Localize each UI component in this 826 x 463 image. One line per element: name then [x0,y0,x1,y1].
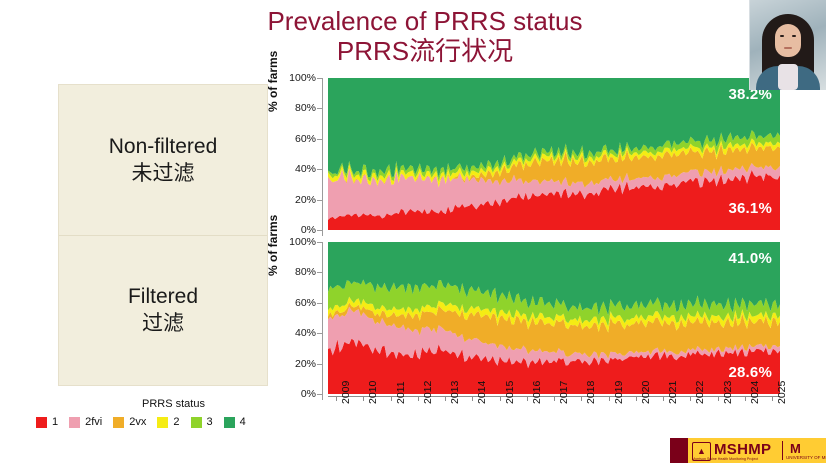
chart-filtered-plot-area [328,242,780,394]
xtick-label: 2012 [422,381,434,404]
chart-non-filtered-annotation-bottom: 36.1% [728,200,772,217]
ytick-mark [317,242,322,243]
xtick-mark [690,396,691,401]
xtick-mark [445,396,446,401]
ytick-mark [317,333,322,334]
legend-item-2[interactable]: 2 [157,416,179,428]
xtick-label: 2011 [395,381,407,404]
ytick-label: 60% [295,297,316,309]
footer-logo-bar: ▲ Morrison Swine Health Monitoring Proje… [670,438,826,463]
legend-swatch-icon [113,417,124,428]
ytick-mark [317,364,322,365]
legend-swatch-icon [36,417,47,428]
chart-filtered-yaxis-line [322,242,323,400]
ytick-label: 80% [295,102,316,114]
legend-item-label: 1 [52,416,58,428]
legend-item-label: 2 [173,416,179,428]
xtick-label: 2024 [749,381,761,404]
legend-items: 12fvi2vx234 [36,416,257,428]
title-line-zh: PRRS流行状况 [190,36,660,66]
ytick-label: 40% [295,327,316,339]
chart-filtered: % of farms 0%20%40%60%80%100% 41.0% 28.6… [268,242,780,400]
xtick-label: 2017 [558,381,570,404]
chart-filtered-yaxis-ticks: 0%20%40%60%80%100% [280,242,322,400]
xtick-mark [472,396,473,401]
xtick-mark [718,396,719,401]
category-label-panel: Non-filtered 未过滤 Filtered 过滤 [58,84,268,386]
panel-row-filtered-label-en: Filtered [128,283,198,310]
ytick-mark [317,78,322,79]
panel-row-non-filtered-label-zh: 未过滤 [132,160,195,187]
xtick-mark [772,396,773,401]
ytick-mark [317,303,322,304]
ytick-label: 100% [289,72,316,84]
xtick-label: 2020 [640,381,652,404]
ytick-mark [317,394,322,395]
xtick-label: 2016 [531,381,543,404]
page-title: Prevalence of PRRS status PRRS流行状况 [190,6,660,66]
ytick-label: 20% [295,194,316,206]
xtick-mark [527,396,528,401]
presenter-video-thumbnail[interactable] [749,0,826,90]
xtick-mark [554,396,555,401]
ytick-label: 100% [289,236,316,248]
xtick-label: 2010 [367,381,379,404]
ytick-label: 80% [295,266,316,278]
ytick-label: 60% [295,133,316,145]
chart-filtered-annotation-top: 41.0% [728,250,772,267]
presenter-eye-left [780,35,784,37]
mshmp-brand-label: MSHMP [714,441,771,458]
xtick-label: 2018 [585,381,597,404]
legend-swatch-icon [157,417,168,428]
legend-title: PRRS status [142,398,205,410]
university-subtitle: UNIVERSITY OF MINNESOTA [786,455,826,460]
xtick-label: 2014 [476,381,488,404]
xtick-mark [745,396,746,401]
legend-item-label: 2fvi [85,416,102,428]
presenter-face [775,24,801,57]
xtick-mark [363,396,364,401]
xtick-mark [500,396,501,401]
chart-non-filtered-ylabel: % of farms [266,96,280,112]
ytick-mark [317,139,322,140]
xtick-label: 2009 [340,381,352,404]
xtick-label: 2021 [667,381,679,404]
xtick-mark [609,396,610,401]
ytick-mark [317,169,322,170]
legend-swatch-icon [224,417,235,428]
ytick-label: 40% [295,163,316,175]
charts-container: % of farms 0%20%40%60%80%100% 38.2% 36.1… [268,78,780,396]
legend-item-4[interactable]: 4 [224,416,246,428]
chart-non-filtered-yaxis-line [322,78,323,236]
ytick-mark [317,108,322,109]
legend-item-label: 2vx [129,416,146,428]
legend-item-3[interactable]: 3 [191,416,213,428]
xtick-mark [581,396,582,401]
xtick-mark [636,396,637,401]
xtick-label: 2013 [449,381,461,404]
ytick-mark [317,230,322,231]
legend-item-1[interactable]: 1 [36,416,58,428]
chart-non-filtered-yaxis-ticks: 0%20%40%60%80%100% [280,78,322,236]
legend-item-2fvi[interactable]: 2fvi [69,416,102,428]
xtick-label: 2025 [776,381,788,404]
presenter-mouth [784,47,792,49]
panel-row-non-filtered: Non-filtered 未过滤 [59,85,267,236]
chart-non-filtered-plot-area [328,78,780,230]
xtick-label: 2023 [722,381,734,404]
legend-item-label: 3 [207,416,213,428]
legend-swatch-icon [69,417,80,428]
legend-item-label: 4 [240,416,246,428]
chart-non-filtered: % of farms 0%20%40%60%80%100% 38.2% 36.1… [268,78,780,236]
presenter-eye-right [792,35,796,37]
university-logo-icon: M [790,441,801,456]
title-line-en: Prevalence of PRRS status [267,6,582,36]
chart-filtered-ylabel: % of farms [266,260,280,276]
panel-row-filtered-label-zh: 过滤 [142,310,184,337]
xtick-mark [418,396,419,401]
ytick-label: 20% [295,358,316,370]
xtick-mark [663,396,664,401]
ytick-label: 0% [301,224,316,236]
ytick-mark [317,200,322,201]
footer-accent-block [670,438,688,463]
chart-legend: PRRS status 12fvi2vx234 [34,398,324,438]
legend-item-2vx[interactable]: 2vx [113,416,146,428]
legend-swatch-icon [191,417,202,428]
xtick-label: 2019 [613,381,625,404]
presenter-collar [778,64,798,90]
xtick-mark [336,396,337,401]
xtick-label: 2015 [504,381,516,404]
chart-filtered-annotation-bottom: 28.6% [728,364,772,381]
xtick-label: 2022 [694,381,706,404]
xtick-mark [391,396,392,401]
ytick-mark [317,272,322,273]
panel-row-non-filtered-label-en: Non-filtered [109,133,218,160]
panel-row-filtered: Filtered 过滤 [59,236,267,386]
footer-divider [782,441,783,460]
